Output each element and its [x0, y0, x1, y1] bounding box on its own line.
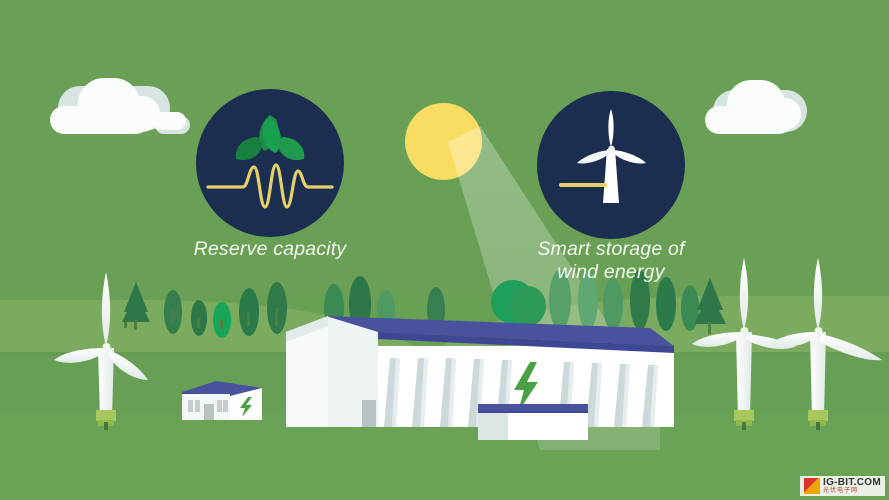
flame-logo-icon	[804, 478, 820, 494]
badge-label-smart-storage: Smart storage of wind energy	[511, 238, 711, 284]
site-watermark: IG-BIT.COM 光伏电子网	[800, 476, 885, 496]
warehouse-annex	[478, 404, 588, 440]
illustration-canvas: Reserve capacity Smart storage of wind e…	[0, 0, 889, 500]
leaves-and-waveform-icon	[196, 89, 344, 237]
wind-turbine-left	[52, 252, 162, 430]
cloud-left-small	[152, 112, 190, 134]
wind-turbine-right-front	[770, 250, 888, 430]
badge-reserve-capacity[interactable]	[196, 89, 344, 237]
cloud-right	[705, 78, 807, 134]
badge-label-reserve-capacity: Reserve capacity	[170, 238, 370, 261]
wind-turbine-icon	[537, 91, 685, 239]
watermark-subtext: 光伏电子网	[823, 488, 881, 494]
watermark-text: IG-BIT.COM	[823, 478, 881, 488]
sun-icon	[405, 103, 482, 180]
small-house	[176, 376, 264, 422]
badge-smart-storage[interactable]	[537, 91, 685, 239]
